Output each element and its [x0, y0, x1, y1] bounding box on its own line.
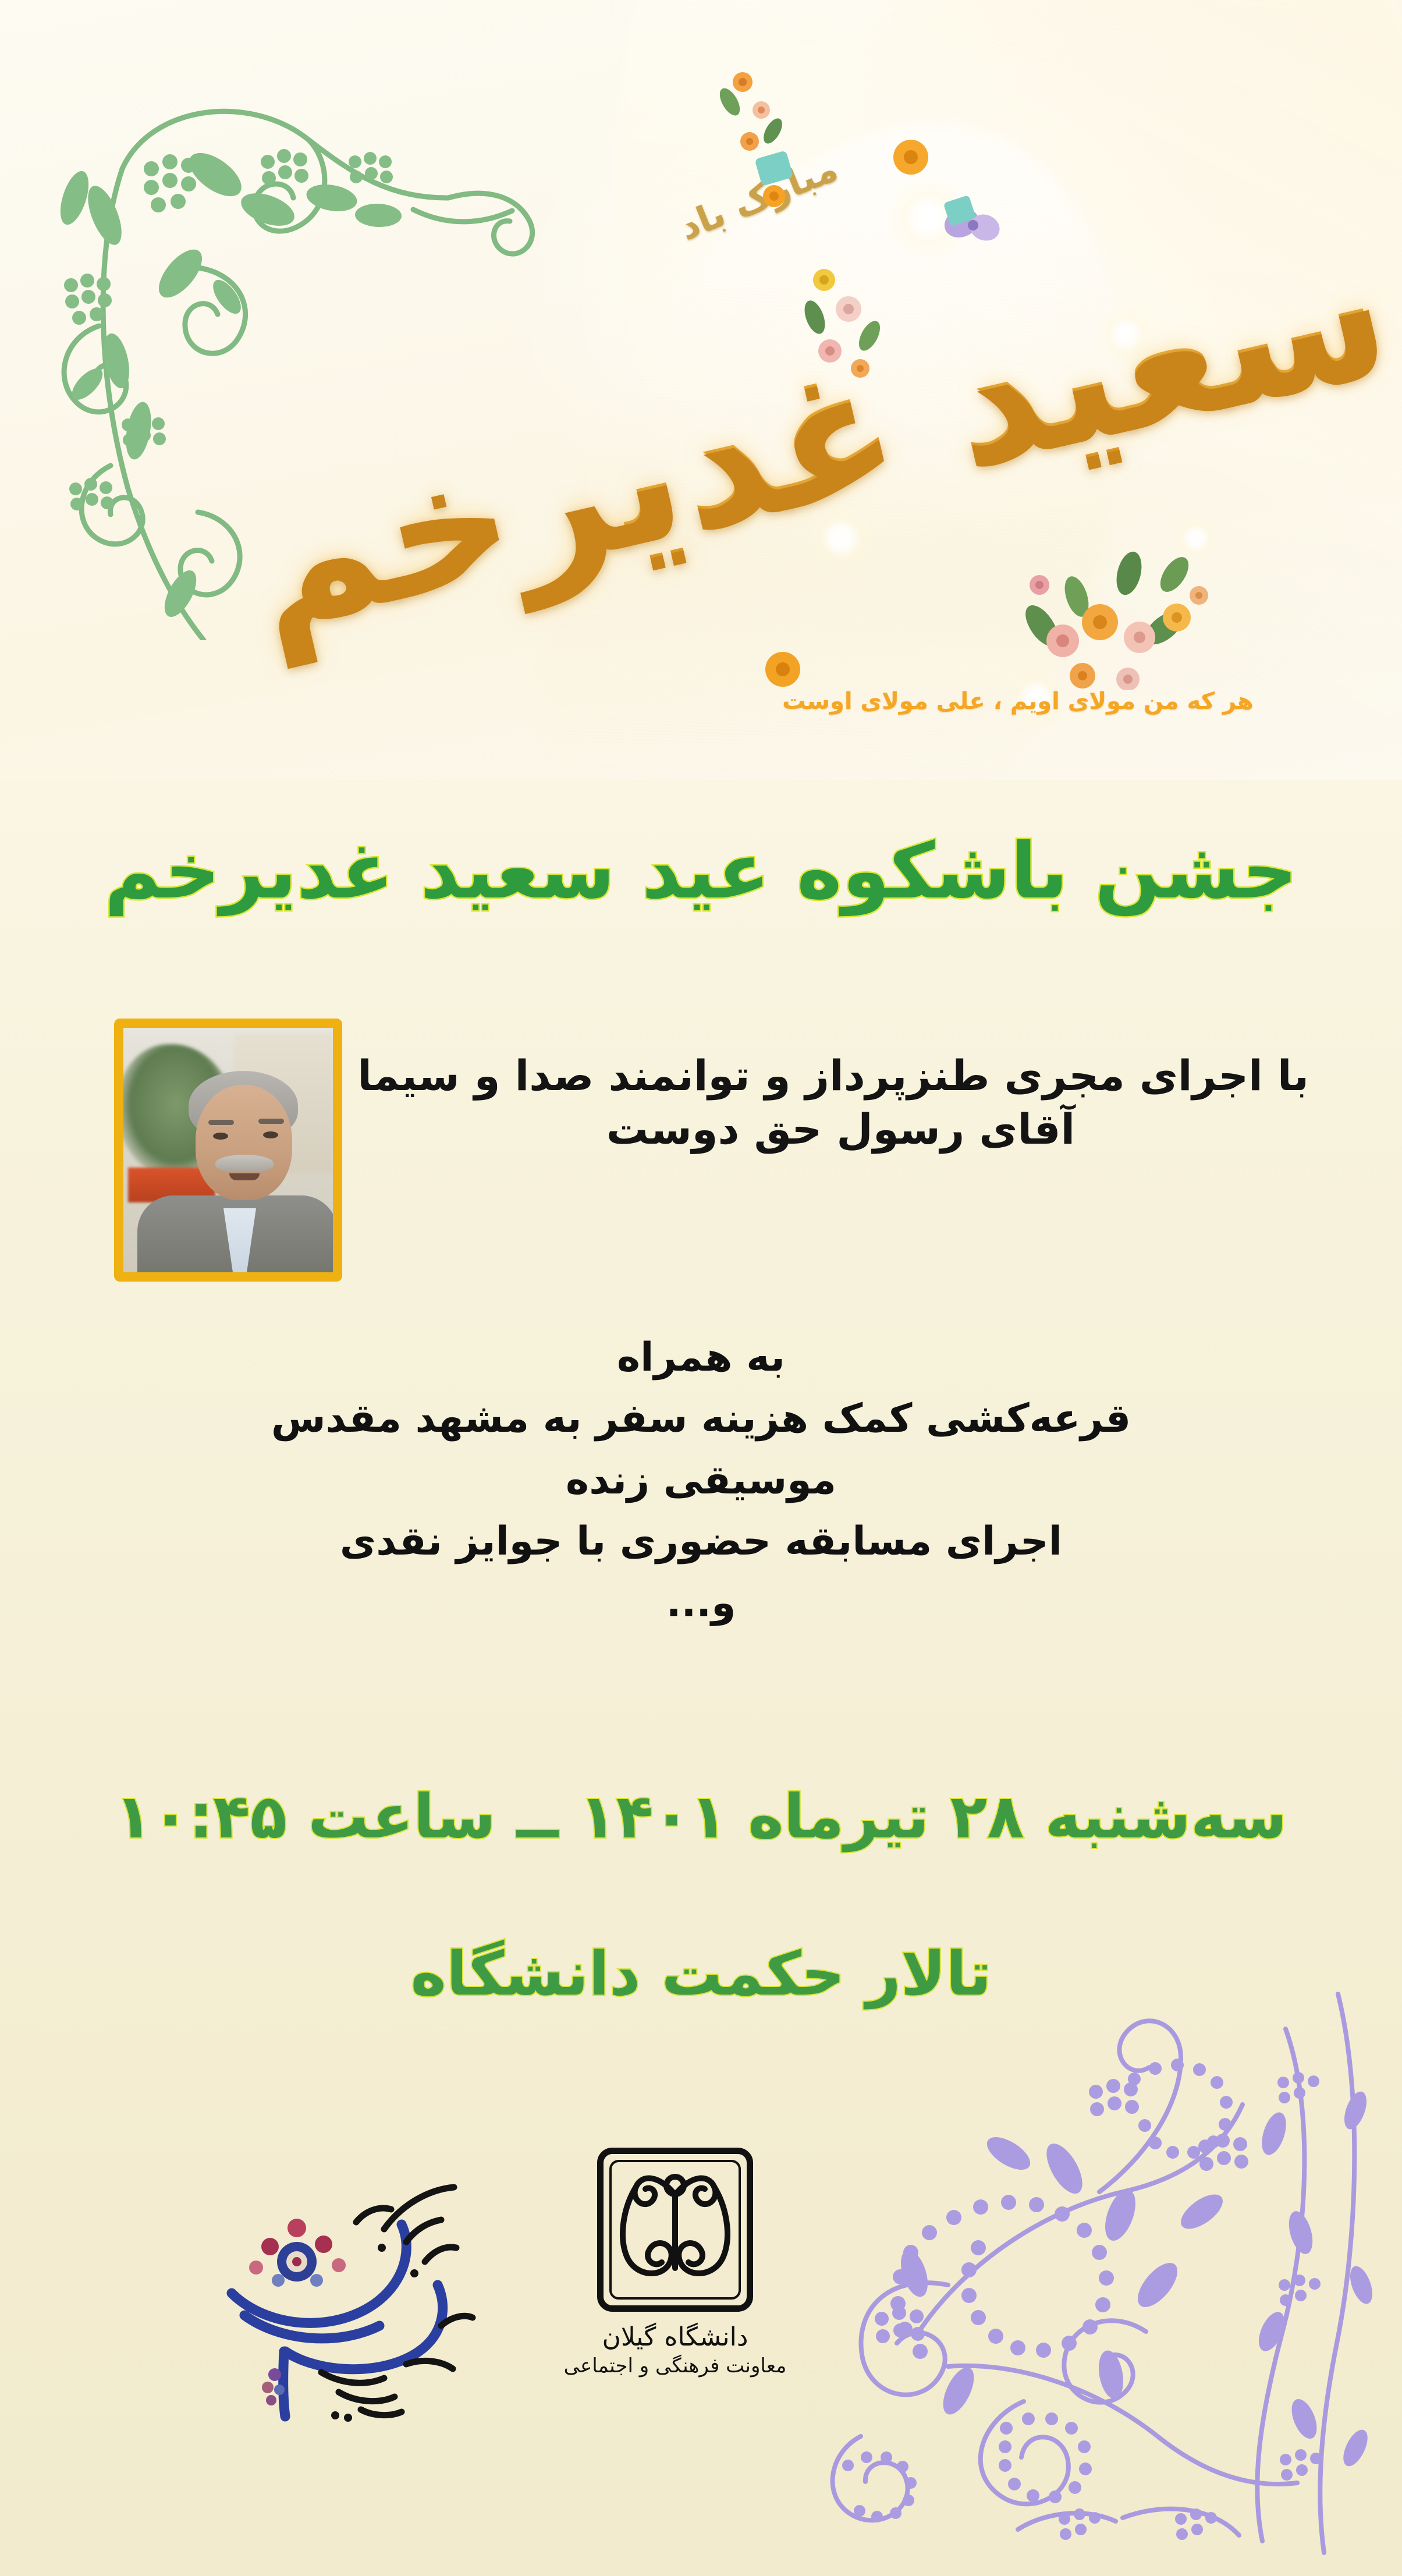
program-list: به همراه قرعه‌کشی کمک هزینه سفر به مشهد …: [0, 1327, 1402, 1634]
event-poster: عید سعید غدیرخم مبارک باد: [0, 0, 1402, 2576]
program-heading: به همراه: [0, 1327, 1402, 1388]
program-item: اجرای مسابقه حضوری با جوایز نقدی: [0, 1511, 1402, 1572]
program-item: قرعه‌کشی کمک هزینه سفر به مشهد مقدس: [0, 1388, 1402, 1449]
university-name: دانشگاه گیلان: [602, 2321, 748, 2353]
guilan-university-mark-icon: [597, 2148, 753, 2312]
presenter-role-line: با اجرای مجری طنزپرداز و توانمند صدا و س…: [372, 1049, 1309, 1102]
university-department: معاونت فرهنگی و اجتماعی: [564, 2353, 787, 2380]
program-item: و...: [0, 1573, 1402, 1634]
leader-office-logo-icon: [210, 2159, 483, 2433]
event-datetime: سه‌شنبه ۲۸ تیرماه ۱۴۰۱ ــ ساعت ۱۰:۴۵: [0, 1781, 1402, 1852]
hero-banner: عید سعید غدیرخم مبارک باد: [0, 0, 1402, 780]
presenter-section: با اجرای مجری طنزپرداز و توانمند صدا و س…: [0, 1019, 1402, 1298]
gold-calligraphy-block: عید سعید غدیرخم مبارک باد: [605, 55, 1373, 742]
program-item: موسیقی زنده: [0, 1450, 1402, 1511]
presenter-text-block: با اجرای مجری طنزپرداز و توانمند صدا و س…: [372, 1049, 1309, 1156]
calligraphy-eid-ghadir: عید سعید غدیرخم: [538, 0, 1402, 780]
butterfly-swirl-icon: [604, 2154, 747, 2305]
event-venue: تالار حکمت دانشگاه: [0, 1938, 1402, 2009]
university-logo: دانشگاه گیلان معاونت فرهنگی و اجتماعی: [556, 2148, 794, 2444]
page-title: جشن باشکوه عید سعید غدیرخم: [0, 826, 1402, 916]
presenter-name-line: آقای رسول حق دوست: [372, 1102, 1309, 1156]
hadith-text: هر که من مولای اویم ، علی مولای اوست: [634, 688, 1402, 715]
presenter-photo: [114, 1019, 342, 1282]
floral-vine-ornament-purple-icon: [773, 1959, 1402, 2576]
